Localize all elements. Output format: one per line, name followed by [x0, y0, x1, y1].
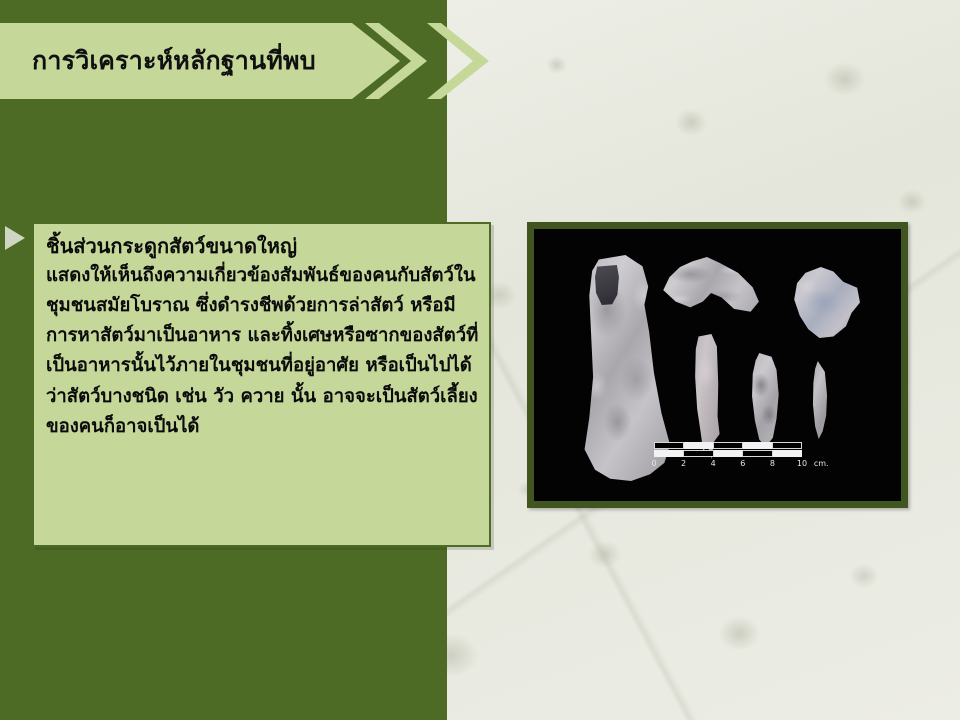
- scale-tick-label: 2: [681, 459, 686, 468]
- scale-tick-label: 6: [740, 459, 745, 468]
- scale-segment: [743, 442, 771, 449]
- scale-unit-label: cm.: [814, 459, 829, 468]
- scale-segment: [654, 450, 683, 457]
- photo-scale-bar: 0 2 4 6 8 10 cm.: [654, 442, 802, 471]
- content-paragraph: แสดงให้เห็นถึงความเกี่ยวข้องสัมพันธ์ของค…: [46, 261, 479, 442]
- content-heading: ชิ้นส่วนกระดูกสัตว์ขนาดใหญ่: [46, 232, 479, 261]
- scale-tick-label: 4: [711, 459, 716, 468]
- bone-fragment-6: [809, 361, 831, 439]
- scale-segment: [742, 450, 773, 457]
- scale-bar-row-bottom: [654, 450, 802, 457]
- bullet-triangle-icon: [5, 226, 25, 250]
- bone-fragment-2: [657, 257, 761, 329]
- scale-segment: [654, 442, 684, 449]
- scale-segment: [773, 450, 802, 457]
- scale-tick-label: 10: [797, 459, 807, 468]
- bone-fragment-5: [747, 353, 783, 447]
- bone-fragment-3: [790, 267, 860, 341]
- scale-tick-label: 0: [651, 459, 656, 468]
- scale-bar-row-top: [654, 442, 802, 449]
- content-text-box: ชิ้นส่วนกระดูกสัตว์ขนาดใหญ่ แสดงให้เห็นถ…: [32, 222, 491, 547]
- scale-tick-label: 8: [770, 459, 775, 468]
- scale-segment: [684, 442, 712, 449]
- artifact-photo-frame: 0 2 4 6 8 10 cm.: [527, 222, 908, 508]
- scale-segment: [683, 450, 714, 457]
- page-title: การวิเคราะห์หลักฐานที่พบ: [32, 41, 316, 81]
- slide-canvas: การวิเคราะห์หลักฐานที่พบ ชิ้นส่วนกระดูกส…: [0, 0, 960, 720]
- bone-fragment-4: [689, 334, 723, 459]
- artifact-photo: 0 2 4 6 8 10 cm.: [534, 229, 901, 501]
- scale-segment: [714, 450, 743, 457]
- scale-bar-labels: 0 2 4 6 8 10 cm.: [654, 459, 802, 471]
- scale-segment: [713, 442, 743, 449]
- title-banner: การวิเคราะห์หลักฐานที่พบ: [0, 23, 400, 99]
- scale-segment: [772, 442, 802, 449]
